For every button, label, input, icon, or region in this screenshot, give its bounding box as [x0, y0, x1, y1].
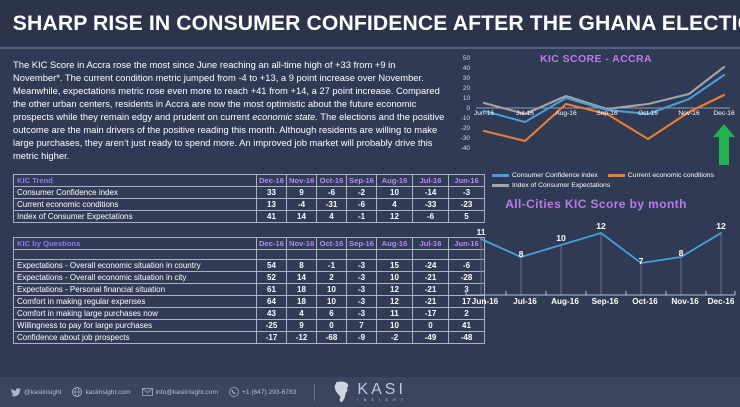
cell: 10: [377, 272, 413, 284]
cell: 14: [287, 211, 317, 223]
data-label: 10: [551, 233, 571, 243]
legend-label: Consumer Confidence index: [512, 172, 598, 179]
cell: 10: [377, 187, 413, 199]
cell: 4: [287, 308, 317, 320]
cell: -68: [317, 332, 347, 344]
column-header: Jul-16: [413, 238, 449, 250]
cell: -49: [413, 332, 449, 344]
row-label: Index of Consumer Expectations: [14, 211, 257, 223]
row-label: Expectations - Overall economic situatio…: [14, 260, 257, 272]
footer-phone-label: +1 (647) 293-6783: [242, 389, 296, 396]
cell: -3: [347, 296, 377, 308]
x-tick-label: Sep-16: [585, 297, 625, 306]
column-header: Jul-16: [413, 175, 449, 187]
cell: 8: [287, 260, 317, 272]
line-chart-1-plot: KIC SCORE - ACCRA 50 40 30 20 10 0 -10 -…: [452, 52, 740, 170]
x-tick-label: Aug-16: [549, 110, 583, 117]
cell: -33: [413, 199, 449, 211]
all-cities-kic-chart: All-Cities KIC Score by month: [452, 195, 740, 313]
left-column: The KIC Score in Accra rose the most sin…: [13, 58, 447, 344]
infographic-page: SHARP RISE IN CONSUMER CONFIDENCE AFTER …: [0, 0, 740, 407]
cell: [377, 250, 413, 260]
table-row: Comfort in making regular expenses 64 18…: [14, 296, 485, 308]
cell: 43: [257, 308, 287, 320]
cell: -6: [413, 211, 449, 223]
kasi-logo-word: KASI: [357, 382, 405, 397]
legend-swatch-icon: [492, 184, 509, 186]
cell: 7: [347, 320, 377, 332]
kasi-logo-sub: I N S I G H T: [357, 398, 405, 402]
table-header-row: KIC Trend Dec-16 Nov-16 Oct-16 Sep-16 Au…: [14, 175, 485, 187]
cell: 0: [413, 320, 449, 332]
column-header: Nov-16: [287, 175, 317, 187]
footer-website-label: kasiinsight.com: [85, 389, 130, 396]
column-header: Oct-16: [317, 238, 347, 250]
kic-by-questions-table: KIC by Questions Dec-16 Nov-16 Oct-16 Se…: [13, 237, 485, 344]
table-row: Expectations - Overall economic situatio…: [14, 272, 485, 284]
cell: -21: [413, 284, 449, 296]
cell: -6: [347, 199, 377, 211]
cell: 18: [287, 284, 317, 296]
table-row: Index of Consumer Expectations 41 14 4 -…: [14, 211, 485, 223]
cell: -9: [347, 332, 377, 344]
cell: -48: [449, 332, 485, 344]
cell: 41: [449, 320, 485, 332]
cell: 52: [257, 272, 287, 284]
cell: [257, 250, 287, 260]
footer-bar: @kasiinsight kasiinsight.com info@kasiin…: [0, 377, 740, 407]
data-label: 7: [631, 256, 651, 266]
line-chart-2-svg: [452, 195, 740, 313]
cell: -14: [413, 187, 449, 199]
cell: 12: [377, 284, 413, 296]
cell: -4: [287, 199, 317, 211]
cell: -17: [413, 308, 449, 320]
globe-icon: [72, 387, 82, 397]
legend-item: Current economic conditions: [608, 172, 714, 179]
cell: -3: [347, 284, 377, 296]
cell: -3: [347, 272, 377, 284]
table-row: Confidence about job prospects -17 -12 -…: [14, 332, 485, 344]
table-row: Expectations - Overall economic situatio…: [14, 260, 485, 272]
data-label: 8: [511, 249, 531, 259]
x-tick-label: Jul-16: [508, 110, 542, 117]
cell: -12: [287, 332, 317, 344]
legend-swatch-icon: [608, 174, 625, 176]
column-header: Sep-16: [347, 175, 377, 187]
cell: 10: [317, 284, 347, 296]
x-tick-label: Jul-16: [505, 297, 545, 306]
kic-trend-title: KIC Trend: [14, 175, 257, 187]
table-row: Willingness to pay for large purchases -…: [14, 320, 485, 332]
x-tick-label: Nov-16: [672, 110, 706, 117]
cell: 11: [377, 308, 413, 320]
row-label: Comfort in making regular expenses: [14, 296, 257, 308]
cell: -3: [347, 260, 377, 272]
footer-divider: [314, 384, 315, 401]
cell: [14, 250, 257, 260]
cell: 61: [257, 284, 287, 296]
kasi-logo: KASI I N S I G H T: [331, 381, 405, 403]
table-header-row: KIC by Questions Dec-16 Nov-16 Oct-16 Se…: [14, 238, 485, 250]
cell: 4: [317, 211, 347, 223]
cell: 15: [377, 260, 413, 272]
data-label: 12: [711, 221, 731, 231]
x-tick-label: Jun-16: [465, 297, 505, 306]
cell: -24: [413, 260, 449, 272]
cell: -2: [347, 187, 377, 199]
row-label: Current economic conditions: [14, 199, 257, 211]
cell: [347, 250, 377, 260]
cell: 9: [287, 187, 317, 199]
x-tick-label: Aug-16: [545, 297, 585, 306]
africa-map-icon: [331, 381, 353, 403]
footer-phone[interactable]: +1 (647) 293-6783: [229, 387, 296, 397]
legend-label: Current economic conditions: [628, 172, 714, 179]
cell: -1: [347, 211, 377, 223]
page-title: SHARP RISE IN CONSUMER CONFIDENCE AFTER …: [0, 11, 740, 36]
cell: [287, 250, 317, 260]
right-column: KIC SCORE - ACCRA 50 40 30 20 10 0 -10 -…: [452, 52, 740, 313]
cell: 12: [377, 211, 413, 223]
line-chart-2-plot: All-Cities KIC Score by month: [452, 195, 740, 313]
cell: -3: [347, 308, 377, 320]
row-label: Consumer Confidence index: [14, 187, 257, 199]
phone-icon: [229, 387, 239, 397]
cell: 13: [257, 199, 287, 211]
cell: 54: [257, 260, 287, 272]
table-row: Expectations - Personal financial situat…: [14, 284, 485, 296]
summary-italic: economic state.: [252, 111, 318, 122]
row-label: Confidence about job prospects: [14, 332, 257, 344]
cell: -6: [317, 187, 347, 199]
cell: -21: [413, 296, 449, 308]
legend-label: Index of Consumer Expectations: [512, 182, 610, 189]
row-label: Expectations - Overall economic situatio…: [14, 272, 257, 284]
column-header: Aug-16: [377, 175, 413, 187]
table-row: Current economic conditions 13 -4 -31 -6…: [14, 199, 485, 211]
table-row: Consumer Confidence index 33 9 -6 -2 10 …: [14, 187, 485, 199]
twitter-icon: [11, 388, 21, 397]
legend-item: Consumer Confidence index: [492, 172, 598, 179]
cell: 41: [257, 211, 287, 223]
kic-questions-title: KIC by Questions: [14, 238, 257, 250]
column-header: Aug-16: [377, 238, 413, 250]
legend-swatch-icon: [492, 174, 509, 176]
cell: 14: [287, 272, 317, 284]
cell: 10: [377, 320, 413, 332]
envelope-icon: [142, 388, 153, 396]
row-label: Comfort in making large purchases now: [14, 308, 257, 320]
column-header: Dec-16: [257, 175, 287, 187]
cell: -2: [377, 332, 413, 344]
cell: -21: [413, 272, 449, 284]
cell: -31: [317, 199, 347, 211]
data-label: 12: [591, 221, 611, 231]
footer-twitter[interactable]: @kasiinsight: [11, 388, 61, 397]
table-spacer-row: [14, 250, 485, 260]
data-label: 11: [471, 227, 491, 237]
x-tick-label: Dec-16: [707, 110, 740, 117]
cell: 10: [317, 296, 347, 308]
footer-twitter-label: @kasiinsight: [24, 389, 61, 396]
x-tick-label: Jun-16: [467, 110, 501, 117]
footer-website[interactable]: kasiinsight.com: [72, 387, 130, 397]
cell: -17: [257, 332, 287, 344]
row-label: Willingness to pay for large purchases: [14, 320, 257, 332]
cell: [317, 250, 347, 260]
cell: 33: [257, 187, 287, 199]
header-bar: SHARP RISE IN CONSUMER CONFIDENCE AFTER …: [0, 0, 740, 49]
cell: -25: [257, 320, 287, 332]
chart-1-legend: Consumer Confidence index Current econom…: [452, 172, 740, 189]
cell: 12: [377, 296, 413, 308]
x-tick-label: Oct-16: [625, 297, 665, 306]
cell: 9: [287, 320, 317, 332]
kic-trend-table: KIC Trend Dec-16 Nov-16 Oct-16 Sep-16 Au…: [13, 174, 485, 223]
footer-email-label: info@kasiinsight.com: [156, 389, 218, 396]
summary-paragraph: The KIC Score in Accra rose the most sin…: [13, 58, 445, 162]
column-header: Dec-16: [257, 238, 287, 250]
x-tick-label: Oct-16: [631, 110, 665, 117]
cell: 18: [287, 296, 317, 308]
column-header: Nov-16: [287, 238, 317, 250]
data-label: 8: [671, 248, 691, 258]
cell: -1: [317, 260, 347, 272]
cell: 0: [317, 320, 347, 332]
up-arrow-green-icon: [711, 122, 737, 167]
x-tick-label: Dec-16: [701, 297, 740, 306]
cell: 6: [317, 308, 347, 320]
cell: [413, 250, 449, 260]
legend-item: Index of Consumer Expectations: [492, 182, 610, 189]
table-row: Comfort in making large purchases now 43…: [14, 308, 485, 320]
row-label: Expectations - Personal financial situat…: [14, 284, 257, 296]
column-header: Sep-16: [347, 238, 377, 250]
kic-score-accra-chart: KIC SCORE - ACCRA 50 40 30 20 10 0 -10 -…: [452, 52, 740, 189]
cell: 64: [257, 296, 287, 308]
x-tick-label: Sep-16: [590, 110, 624, 117]
cell: 4: [377, 199, 413, 211]
cell: 2: [317, 272, 347, 284]
column-header: Oct-16: [317, 175, 347, 187]
footer-email[interactable]: info@kasiinsight.com: [142, 388, 218, 396]
x-tick-label: Nov-16: [665, 297, 705, 306]
